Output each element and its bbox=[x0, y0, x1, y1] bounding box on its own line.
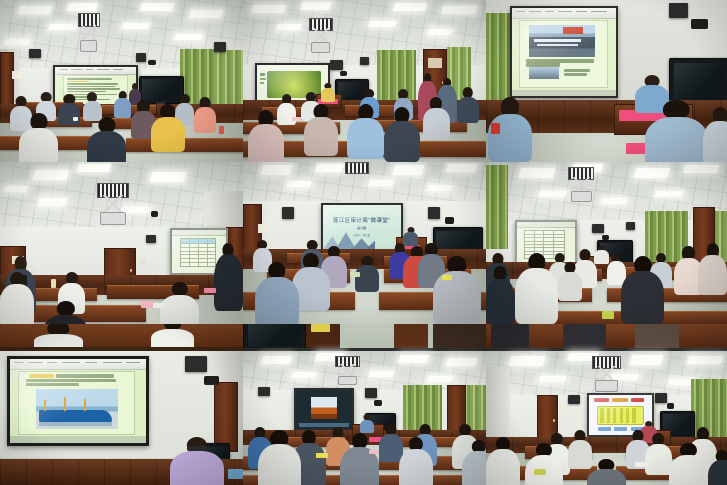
photo-collage-grid: 蓬江区审计局“微课堂” 第六期 主讲人：审计组 bbox=[0, 0, 727, 485]
wall-speaker bbox=[655, 393, 667, 403]
attendee bbox=[669, 443, 708, 485]
projector-lift bbox=[309, 18, 333, 54]
collage-cell-middle-right bbox=[486, 162, 727, 324]
attendee bbox=[304, 104, 338, 156]
wall-speaker bbox=[185, 356, 207, 372]
attendee bbox=[462, 440, 486, 485]
collage-cell-bottom-center bbox=[243, 324, 486, 485]
camera-icon bbox=[340, 71, 347, 76]
attendee bbox=[558, 262, 582, 301]
attendee bbox=[433, 256, 482, 324]
attendee bbox=[708, 450, 727, 485]
projector-screen bbox=[294, 388, 354, 431]
wall-speaker bbox=[29, 49, 41, 59]
attendee bbox=[457, 87, 479, 123]
projector-lift bbox=[78, 13, 100, 52]
collage-cell-bottom-right bbox=[486, 324, 727, 485]
collage-cell-top-left bbox=[0, 0, 243, 162]
attendee bbox=[587, 459, 626, 485]
attendee bbox=[340, 433, 379, 485]
collage-cell-top-right bbox=[486, 0, 727, 162]
wall-speaker bbox=[146, 235, 156, 243]
projector-lift bbox=[345, 162, 369, 172]
camera-icon bbox=[151, 211, 158, 217]
attendee bbox=[151, 104, 185, 153]
flat-tv bbox=[243, 324, 306, 350]
wall-speaker bbox=[360, 57, 370, 65]
camera-icon bbox=[148, 60, 155, 65]
attendee bbox=[645, 100, 708, 162]
attendee bbox=[621, 256, 664, 324]
attendee bbox=[347, 104, 383, 159]
projector-lift bbox=[592, 356, 621, 391]
collage-cell-top-center bbox=[243, 0, 486, 162]
attendee bbox=[703, 107, 727, 162]
camera-icon bbox=[374, 400, 381, 406]
projector-screen bbox=[7, 356, 149, 446]
collage-cell-middle-center: 蓬江区审计局“微课堂” 第六期 主讲人：审计组 bbox=[243, 162, 486, 324]
window-curtain bbox=[486, 165, 508, 249]
bench-desk bbox=[126, 138, 243, 152]
wall-speaker bbox=[365, 388, 377, 398]
attendee bbox=[19, 113, 58, 162]
attendee bbox=[486, 437, 520, 485]
attendee bbox=[214, 243, 243, 311]
attendee bbox=[515, 253, 558, 324]
camera-icon bbox=[204, 376, 219, 386]
wall-speaker bbox=[428, 207, 440, 218]
camera-icon bbox=[691, 19, 708, 29]
attendee bbox=[114, 91, 131, 119]
attendee bbox=[486, 266, 515, 324]
attendee bbox=[255, 262, 299, 324]
wall-speaker bbox=[626, 222, 636, 230]
attendee bbox=[0, 272, 34, 324]
projector-lift bbox=[568, 167, 595, 203]
eyeglasses-icon bbox=[187, 446, 206, 451]
attendee bbox=[384, 107, 420, 162]
wall-speaker bbox=[568, 395, 580, 405]
attendee bbox=[258, 430, 302, 485]
attendee bbox=[698, 243, 727, 295]
camera-icon bbox=[667, 403, 674, 409]
collage-cell-bottom-left bbox=[0, 324, 243, 485]
wall-speaker bbox=[258, 387, 270, 397]
wall-speaker bbox=[330, 60, 342, 70]
flat-tv bbox=[669, 58, 727, 105]
window-curtain bbox=[486, 13, 510, 107]
wall-speaker bbox=[214, 42, 226, 52]
attendee bbox=[645, 433, 672, 475]
camera-icon bbox=[445, 217, 455, 223]
presenter bbox=[360, 414, 375, 433]
collage-cell-middle-left bbox=[0, 162, 243, 324]
attendee bbox=[44, 301, 88, 324]
attendee bbox=[525, 443, 564, 485]
attendee bbox=[194, 97, 216, 133]
projector-lift bbox=[335, 356, 359, 385]
projector-screen bbox=[510, 6, 618, 97]
wall-speaker bbox=[136, 53, 146, 61]
wall-speaker bbox=[669, 3, 688, 18]
wall-speaker bbox=[592, 224, 604, 234]
projector-lift bbox=[97, 183, 129, 225]
presenter bbox=[321, 83, 336, 102]
attendee bbox=[87, 117, 126, 162]
attendee bbox=[399, 437, 433, 485]
attendee bbox=[423, 97, 450, 139]
attendee bbox=[160, 282, 199, 324]
wall-speaker bbox=[282, 207, 294, 218]
attendee bbox=[170, 437, 223, 485]
slide-dark-photo bbox=[296, 390, 352, 429]
